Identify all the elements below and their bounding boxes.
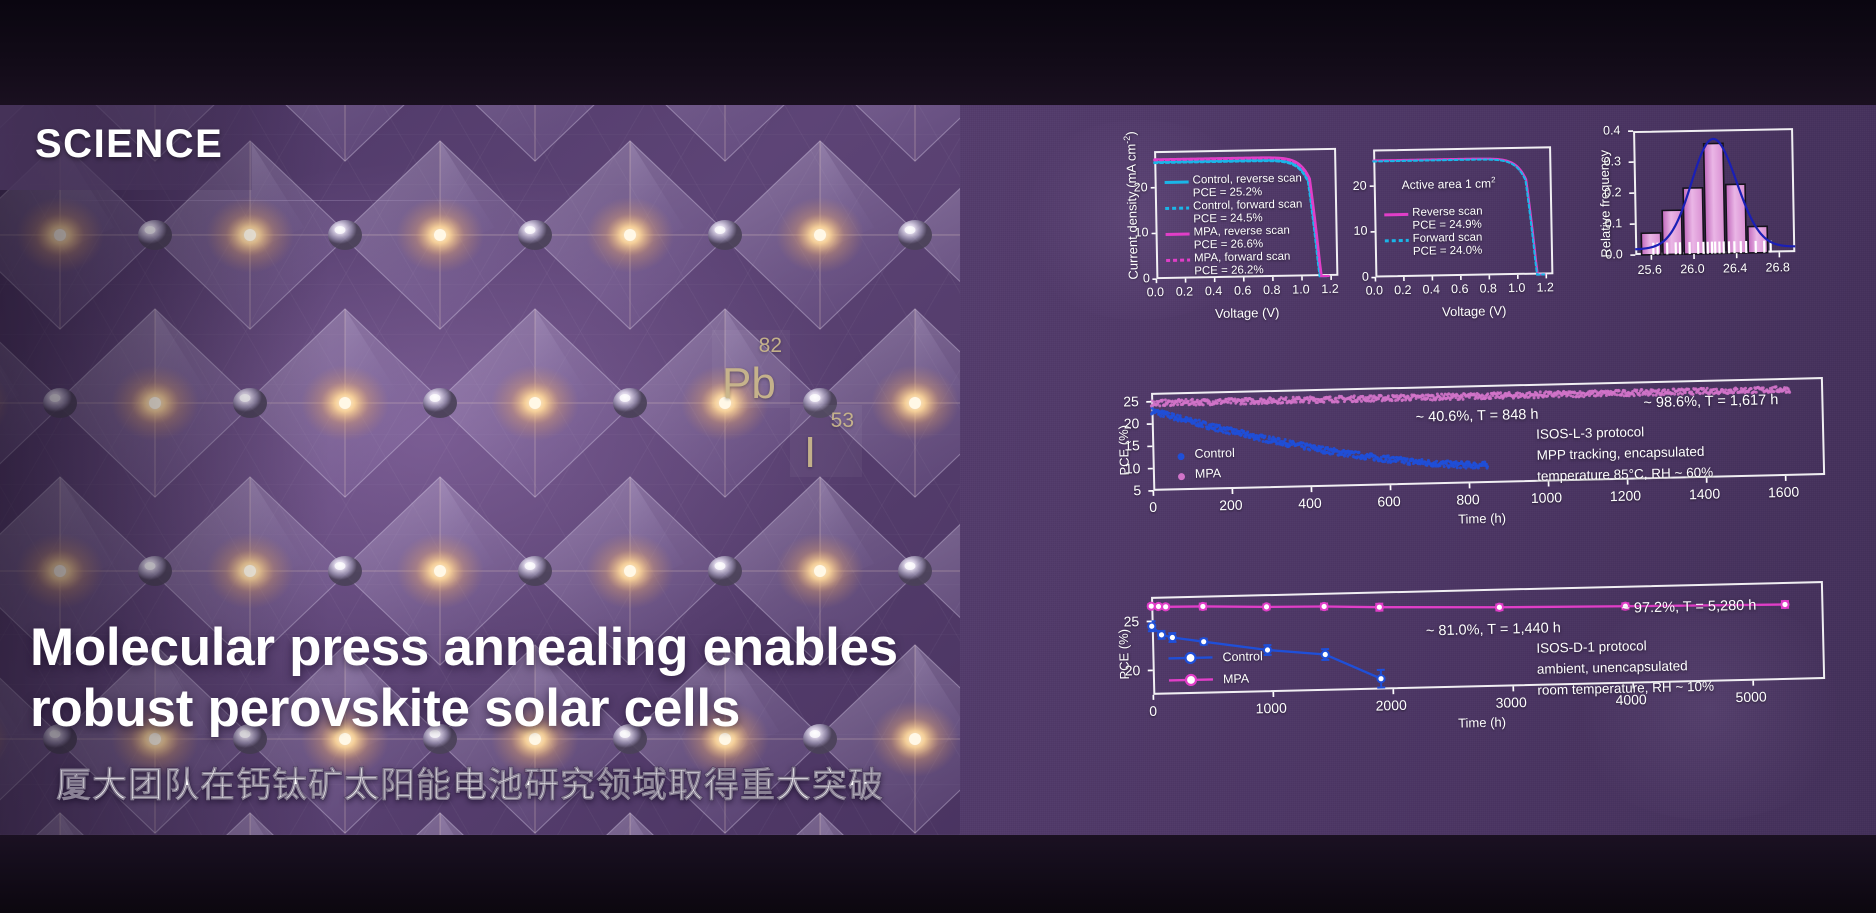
tick-label: 1000	[1531, 489, 1563, 506]
tick-label: 0.4	[1603, 123, 1621, 137]
tick-label: 0	[1143, 271, 1150, 285]
tick-label: 20	[1353, 178, 1367, 192]
annotation-control-retention: ~ 81.0%, T = 1,440 h	[1426, 620, 1561, 639]
element-tile-iodine: 53 I	[790, 405, 862, 477]
annotation-protocol: ISOS-L-3 protocol	[1536, 424, 1644, 442]
tick-label: 15	[1124, 438, 1140, 454]
banner-stage: 82 Pb 53 I SCIENCE Molecular press annea…	[0, 0, 1876, 913]
tick-label: 1.2	[1321, 282, 1339, 296]
tick-label: 20	[1124, 415, 1140, 431]
tick-label: 2000	[1375, 697, 1407, 714]
chart-jv-small: Current density (mA cm-2) Voltage (V) 0.…	[1108, 143, 1371, 338]
element-symbol: Pb	[722, 362, 776, 406]
tick-label: 0.8	[1479, 281, 1497, 295]
legend-line-swatch	[1166, 233, 1190, 236]
chart-pce-histogram: Relative frequency 25.626.026.426.8 0.00…	[1582, 124, 1815, 308]
x-axis-title: Voltage (V)	[1215, 305, 1280, 321]
tick-label: 0.0	[1366, 283, 1384, 297]
legend-series-name: Control, reverse scan	[1192, 172, 1301, 186]
tick-label: 1000	[1256, 700, 1288, 717]
chart-jv-large-area: Active area 1 cm2 Voltage (V) 0.00.20.40…	[1349, 142, 1584, 336]
tick-label: 0.6	[1234, 283, 1252, 297]
tick-label: 26.8	[1765, 260, 1790, 274]
tick-label: 0.3	[1603, 154, 1621, 168]
subtitle-chinese: 厦大团队在钙钛矿太阳能电池研究领域取得重大突破	[56, 757, 884, 808]
background-top-band	[0, 0, 1876, 105]
tick-label: 1400	[1689, 485, 1721, 502]
tick-label: 800	[1456, 491, 1480, 508]
legend-series-name: Control, forward scan	[1193, 198, 1302, 212]
tick-label: 10	[1353, 224, 1367, 238]
tick-label: 0.4	[1205, 284, 1223, 298]
tick-label: 0.0	[1605, 247, 1623, 261]
page-title: Molecular press annealing enables robust…	[30, 617, 930, 740]
tick-label: 20	[1125, 662, 1141, 678]
legend-line-swatch	[1165, 181, 1189, 184]
headline-line-2: robust perovskite solar cells	[30, 678, 930, 739]
active-area-annotation: Active area 1 cm2	[1402, 175, 1496, 192]
tick-label: 0.2	[1176, 284, 1194, 298]
tick-label: 200	[1219, 497, 1243, 514]
annotation-control-retention: ~ 40.6%, T = 848 h	[1416, 407, 1539, 426]
y-axis-title: Current density (mA cm-2)	[1122, 131, 1141, 279]
background-bottom-band	[0, 835, 1876, 913]
tick-label: 25	[1123, 613, 1139, 629]
tick-label: 0.4	[1422, 282, 1440, 296]
annotation-mpa-retention: ~ 98.6%, T = 1,617 h	[1643, 392, 1778, 411]
legend-line-swatch	[1384, 213, 1408, 216]
chart-isos-l3: PCE (%) Time (h) 02004006008001000120014…	[1103, 375, 1830, 502]
legend-pce-value: PCE = 24.0%	[1413, 245, 1483, 258]
legend-pce-value: PCE = 26.2%	[1194, 264, 1264, 277]
tick-label: 20	[1134, 180, 1148, 194]
tick-label: 0	[1149, 499, 1157, 515]
legend-pce-value: PCE = 24.5%	[1193, 212, 1263, 225]
tick-label: 1.2	[1536, 280, 1554, 294]
light-streak	[60, 200, 580, 201]
tick-label: 5000	[1735, 688, 1767, 705]
x-axis-title: Time (h)	[1458, 715, 1506, 731]
legend-dash-swatch	[1385, 239, 1409, 242]
tick-label: 600	[1377, 493, 1401, 510]
element-number: 53	[831, 409, 854, 433]
tick-label: 10	[1134, 226, 1148, 240]
headline-line-1: Molecular press annealing enables	[30, 617, 930, 678]
tick-label: 25	[1123, 393, 1139, 409]
tick-label: 26.0	[1680, 262, 1705, 276]
brand-logo-science: SCIENCE	[35, 122, 223, 167]
tick-label: 10	[1125, 460, 1141, 476]
tick-label: 400	[1298, 495, 1322, 512]
legend-pce-value: PCE = 26.6%	[1194, 238, 1264, 251]
legend-label-mpa: MPA	[1195, 466, 1221, 481]
tick-label: 1600	[1768, 484, 1800, 501]
legend-series-name: Forward scan	[1413, 232, 1483, 245]
legend-series-name: Reverse scan	[1412, 206, 1483, 219]
tick-label: 0.6	[1451, 282, 1469, 296]
element-number: 82	[759, 334, 782, 358]
tick-label: 0.2	[1604, 185, 1622, 199]
tick-label: 1200	[1610, 487, 1642, 504]
tick-label: 0.8	[1263, 283, 1281, 297]
annotation-mpa-retention: ~ 97.2%, T = 5,280 h	[1621, 598, 1756, 617]
legend-label-control: Control	[1194, 446, 1235, 461]
tick-label: 0	[1362, 270, 1369, 284]
tick-label: 26.4	[1723, 261, 1748, 275]
tick-label: 0	[1149, 703, 1157, 719]
tick-label: 1.0	[1508, 281, 1526, 295]
tick-label: 1.0	[1292, 282, 1310, 296]
legend-series-name: MPA, forward scan	[1194, 251, 1291, 265]
annotation-protocol: ISOS-D-1 protocol	[1536, 638, 1647, 656]
tick-label: 3000	[1495, 694, 1527, 711]
tick-label: 25.6	[1637, 263, 1662, 277]
legend-label-control: Control	[1222, 649, 1263, 664]
element-symbol: I	[804, 431, 816, 475]
legend-pce-value: PCE = 24.9%	[1412, 219, 1482, 232]
tick-label: 0.2	[1394, 283, 1412, 297]
tick-label: 0.0	[1147, 285, 1165, 299]
tick-label: 0.1	[1605, 216, 1623, 230]
d1-legend-lines	[1166, 649, 1227, 696]
tick-label: 5	[1133, 482, 1141, 498]
element-tile-lead: 82 Pb	[712, 330, 790, 408]
legend-pce-value: PCE = 25.2%	[1193, 186, 1263, 199]
legend-series-name: MPA, reverse scan	[1193, 225, 1290, 239]
legend-dash-swatch	[1165, 207, 1189, 210]
legend-dash-swatch	[1166, 259, 1190, 262]
legend-label-mpa: MPA	[1223, 672, 1249, 687]
chart-isos-d1: PCE (%) Time (h) 010002000300040005000 2…	[1103, 579, 1830, 706]
x-axis-title: Time (h)	[1458, 511, 1506, 527]
x-axis-title: Voltage (V)	[1442, 303, 1507, 319]
